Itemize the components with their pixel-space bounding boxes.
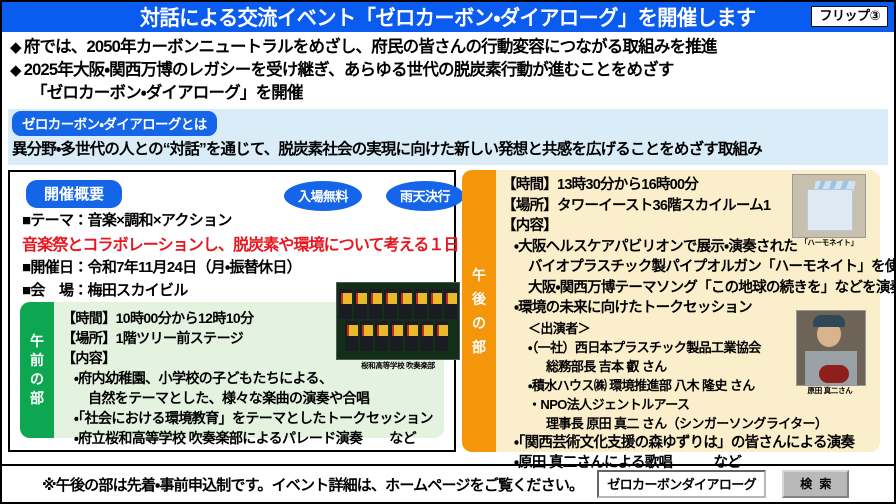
overview-date: ■開催日：令和7年11月24日（月・振替休日） (22, 256, 301, 277)
overview-theme: ■テーマ：音楽×調和×アクション (22, 209, 232, 230)
harmoneito-organ-photo-caption: 「ハーモネイト」 (788, 237, 870, 248)
morning-tab-ch4: 部 (30, 389, 44, 408)
morning-line: ・「社会における環境教育」をテーマとしたトークセッション (62, 408, 433, 428)
afternoon-line: ・「関西芸術文化支援の森ゆずりは」の皆さんによる演奏 (502, 433, 896, 454)
badge-rain-or-shine: 雨天決行 (386, 181, 464, 211)
afternoon-tab-label: 午 後 の 部 (462, 170, 496, 452)
lead-bullet-1: ◆ 府では、2050年カーボンニュートラルをめざし、府民の皆さんの行動変容につな… (10, 36, 886, 59)
afternoon-line: バイオプラスチック製パイプオルガン「ハーモネイト」を使用し、 (502, 257, 896, 278)
harada-shinji-photo (796, 310, 866, 386)
lead-bullet-2-text: 2025年大阪・関西万博のレガシーを受け継ぎ、あらゆる世代の脱炭素行動が進むこと… (24, 59, 674, 82)
definition-pill-label: ゼロカーボン・ダイアローグとは (12, 111, 217, 136)
harmoneito-organ-photo (792, 174, 866, 238)
morning-line: ・府内幼稚園、小学校の子どもたちによる、 (62, 368, 433, 388)
afternoon-line: 大阪・関西万博テーマソング「この地球の続きを」などを演奏 (502, 278, 896, 299)
morning-tab-ch1: 午 (30, 332, 44, 351)
afternoon-line: 理事長 原田 真二 さん（シンガーソングライター） (502, 414, 896, 433)
afternoon-tab-ch2: 後 (472, 287, 486, 311)
footer-note: ※午後の部は先着・事前申込制です。イベント詳細は、ホームページをご覧ください。 (42, 474, 583, 495)
lead-bullet-2: ◆ 2025年大阪・関西万博のレガシーを受け継ぎ、あらゆる世代の脱炭素行動が進む… (10, 59, 886, 82)
afternoon-tab-ch1: 午 (472, 263, 486, 287)
flip-badge: フリップ③ (811, 6, 888, 27)
lead-bullet-2-continuation: 「ゼロカーボン・ダイアローグ」を開催 (10, 82, 886, 105)
diamond-icon: ◆ (10, 36, 21, 59)
search-button[interactable]: 検 索 (782, 470, 849, 498)
title-bar: 対話による交流イベント「ゼロカーボン・ダイアローグ」を開催します フリップ③ (2, 2, 894, 32)
panels-container: 開催概要 入場無料 雨天決行 ■テーマ：音楽×調和×アクション 音楽祭とコラボレ… (8, 170, 888, 452)
page-title: 対話による交流イベント「ゼロカーボン・ダイアローグ」を開催します (140, 2, 756, 32)
definition-block: ゼロカーボン・ダイアローグとは 異分野・多世代の人との“対話”を通じて、脱炭素社… (8, 109, 888, 165)
afternoon-panel: 午 後 の 部 【時間】13時30分から16時00分 【場所】タワーイースト36… (462, 170, 880, 452)
search-input[interactable]: ゼロカーボンダイアローグ (597, 470, 766, 498)
lead-bullet-1-text: 府では、2050年カーボンニュートラルをめざし、府民の皆さんの行動変容につながる… (24, 36, 717, 59)
overview-venue: ■会 場：梅田スカイビル (22, 279, 188, 300)
morning-tab-ch2: 前 (30, 351, 44, 370)
brass-band-photo-caption: 桜和高等学校 吹奏楽部 (336, 360, 460, 371)
badge-free-admission: 入場無料 (284, 181, 362, 211)
overview-panel: 開催概要 入場無料 雨天決行 ■テーマ：音楽×調和×アクション 音楽祭とコラボレ… (8, 170, 456, 452)
definition-body: 異分野・多世代の人との“対話”を通じて、脱炭素社会の実現に向けた新しい発想と共感… (12, 137, 762, 159)
morning-tab-ch3: の (30, 370, 44, 389)
morning-tab-label: 午 前 の 部 (20, 302, 54, 438)
harada-shinji-photo-caption: 原田 真二さん (788, 385, 872, 396)
afternoon-tab-ch4: 部 (472, 335, 486, 359)
slide-root: 対話による交流イベント「ゼロカーボン・ダイアローグ」を開催します フリップ③ ◆… (0, 0, 896, 504)
afternoon-line: ・NPO法人ジェントルアース (502, 395, 896, 414)
footer-bar: ※午後の部は先着・事前申込制です。イベント詳細は、ホームページをご覧ください。 … (2, 464, 894, 502)
morning-line: 自然をテーマとした、様々な楽曲の演奏や合唱 (62, 388, 433, 408)
overview-pill-label: 開催概要 (26, 180, 122, 208)
overview-highlight: 音楽祭とコラボレーションし、脱炭素や環境について考える１日 (22, 231, 459, 255)
diamond-icon: ◆ (10, 59, 21, 82)
brass-band-photo (336, 282, 460, 360)
lead-bullets: ◆ 府では、2050年カーボンニュートラルをめざし、府民の皆さんの行動変容につな… (2, 32, 894, 105)
morning-line: ・府立桜和高等学校 吹奏楽部によるパレード演奏 など (62, 428, 433, 448)
afternoon-tab-ch3: の (472, 311, 486, 335)
